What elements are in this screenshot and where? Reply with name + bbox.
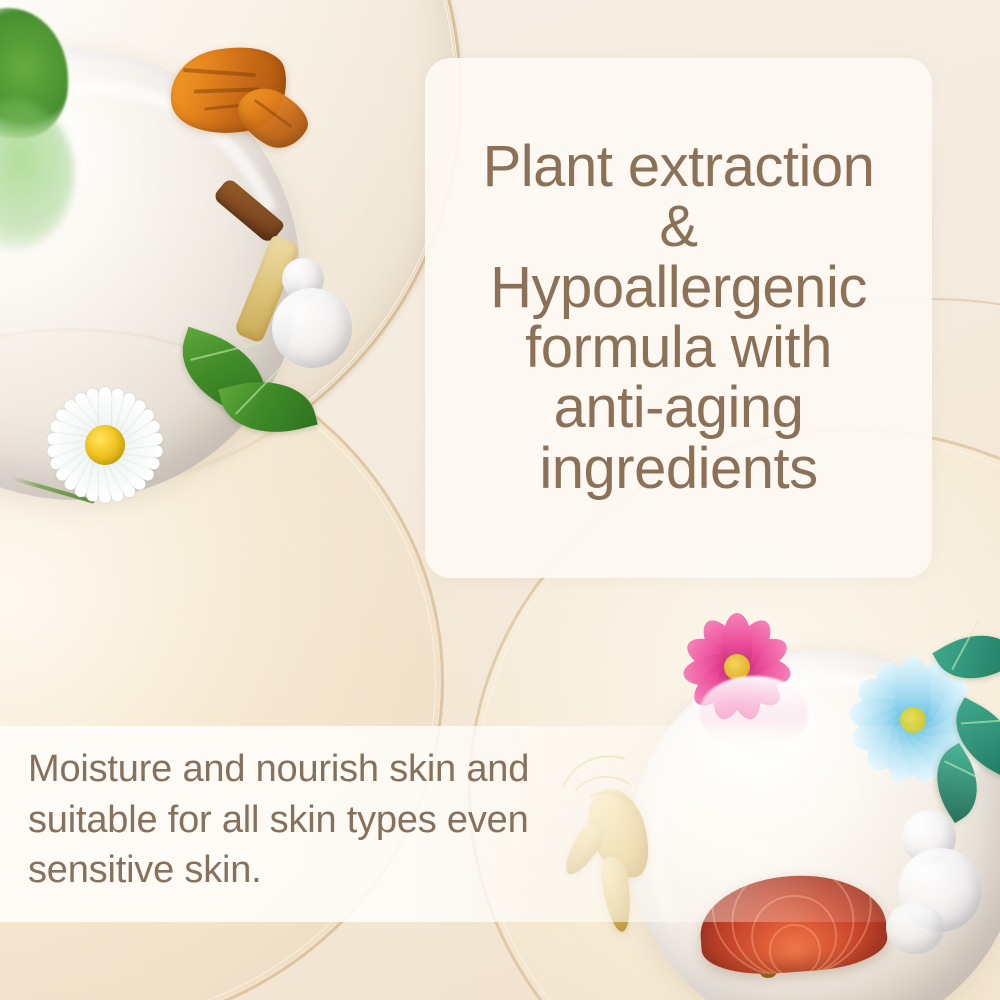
- water-droplet-large-top-left: [272, 288, 352, 368]
- chamomile-daisy-icon: [40, 380, 170, 510]
- headline-line-6: ingredients: [539, 439, 817, 499]
- promo-banner: Plant extraction & Hypoallergenic formul…: [0, 0, 1000, 1000]
- pink-peony-center: [724, 654, 750, 680]
- pink-peony-flower-icon: [672, 612, 802, 722]
- headline-line-4: formula with: [525, 318, 832, 378]
- paragraph-line-1: Moisture and nourish skin and: [28, 744, 618, 795]
- headline-line-5: anti-aging: [554, 378, 804, 438]
- headline-line-1: Plant extraction: [483, 137, 875, 197]
- paragraph-text: Moisture and nourish skin and suitable f…: [28, 744, 618, 896]
- headline-panel: Plant extraction & Hypoallergenic formul…: [425, 58, 932, 578]
- headline-line-2: &: [659, 197, 697, 257]
- headline-line-3: Hypoallergenic: [490, 258, 867, 318]
- daisy-center: [85, 425, 125, 465]
- paragraph-line-3: sensitive skin.: [28, 845, 618, 896]
- paragraph-line-2: suitable for all skin types even: [28, 795, 618, 846]
